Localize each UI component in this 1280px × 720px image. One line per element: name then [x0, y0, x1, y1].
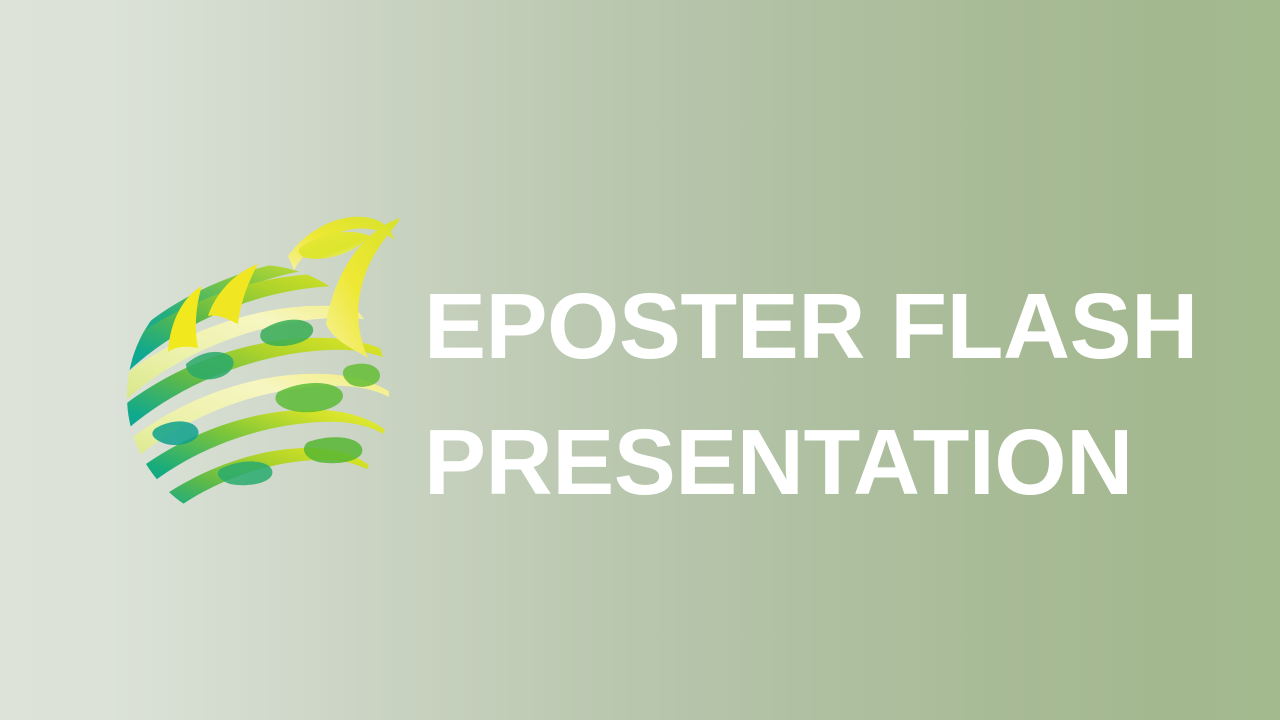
slide-title: EPOSTER FLASH PRESENTATION [424, 258, 1224, 530]
spiral-ribbon-globe-logo [112, 196, 412, 526]
title-line-2: PRESENTATION [424, 394, 1224, 530]
title-slide: EPOSTER FLASH PRESENTATION [0, 0, 1280, 720]
title-line-1: EPOSTER FLASH [424, 258, 1224, 394]
globe-ribbon-bands [112, 256, 412, 526]
